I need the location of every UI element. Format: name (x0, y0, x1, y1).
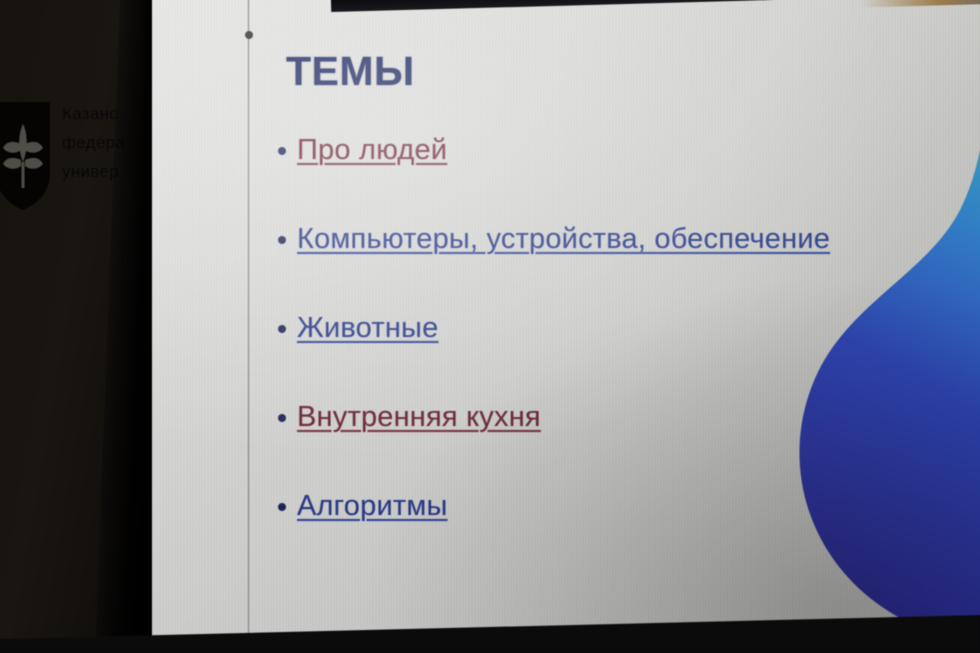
bullet-dot-icon (278, 147, 286, 155)
slide-guide-dot-top (245, 31, 253, 39)
list-item[interactable]: Про людей (278, 132, 838, 169)
list-item[interactable]: Внутренняя кухня (278, 399, 838, 436)
topic-link-people[interactable]: Про людей (297, 132, 447, 169)
bullet-dot-icon (278, 325, 286, 333)
bullet-dot-icon (278, 236, 286, 244)
topics-list: Про людей Компьютеры, устройства, обеспе… (278, 132, 838, 578)
list-item[interactable]: Компьютеры, устройства, обеспечение (278, 221, 838, 258)
slide-guide-line (248, 0, 249, 653)
list-item[interactable]: Животные (278, 310, 838, 347)
topic-link-computers[interactable]: Компьютеры, устройства, обеспечение (297, 221, 830, 258)
bullet-dot-icon (278, 414, 286, 422)
presentation-screen: ТЕМЫ Про людей Компьютеры, устройства, о… (152, 0, 980, 653)
topic-link-algorithms[interactable]: Алгоритмы (297, 488, 448, 525)
bullet-dot-icon (278, 503, 286, 511)
list-item[interactable]: Алгоритмы (278, 488, 838, 525)
screenshot-root: Казанс федера универ (0, 0, 980, 653)
slide-title: ТЕМЫ (286, 48, 415, 95)
slide-content: ТЕМЫ Про людей Компьютеры, устройства, о… (152, 0, 980, 653)
topic-link-behind-the-scenes[interactable]: Внутренняя кухня (297, 399, 541, 436)
topic-link-animals[interactable]: Животные (297, 310, 438, 347)
shield-wheat-emblem-icon (0, 100, 52, 212)
